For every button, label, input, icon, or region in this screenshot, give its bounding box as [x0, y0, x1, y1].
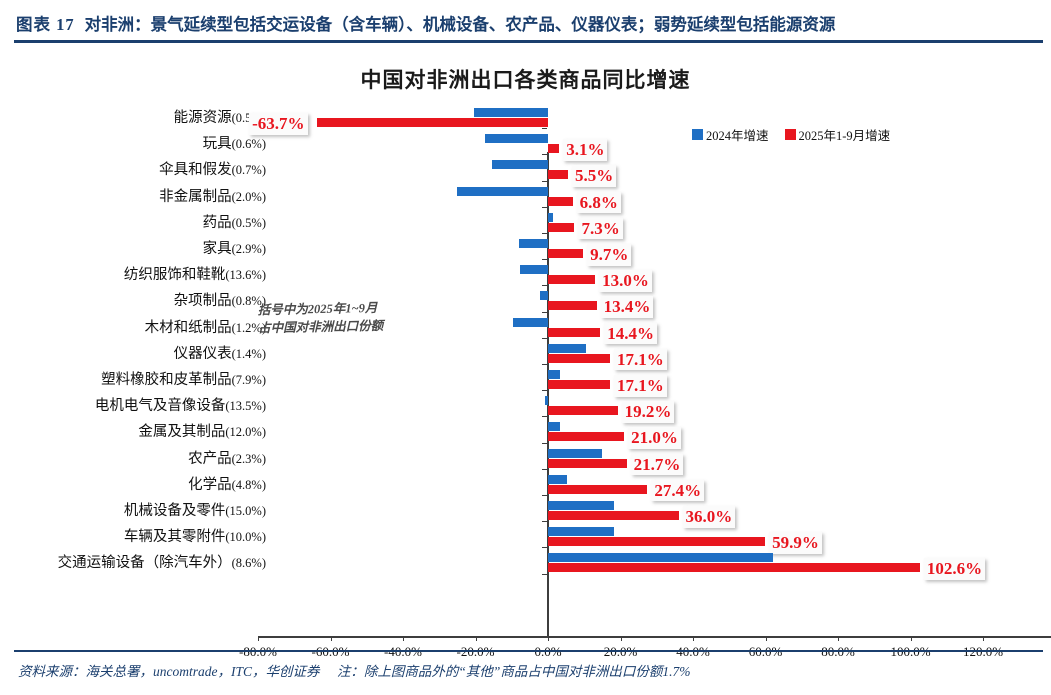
- category-label: 电机电气及音像设备(13.5%): [0, 399, 272, 414]
- y-axis-tick: [542, 181, 547, 182]
- bar-2024: [545, 396, 548, 405]
- bar-2025: [548, 406, 618, 415]
- y-axis-tick: [542, 416, 547, 417]
- bar-2025: [548, 485, 647, 494]
- bar-2024: [548, 475, 567, 484]
- bar-2025: [548, 144, 559, 153]
- bar-2024: [548, 449, 602, 458]
- category-label: 伞具和假发(0.7%): [0, 163, 272, 178]
- bar-2025: [548, 197, 573, 206]
- chart-row: 塑料橡胶和皮革制品(7.9%)17.1%: [0, 367, 1051, 393]
- chart-row: 纺织服饰和鞋靴(13.6%)13.0%: [0, 262, 1051, 288]
- figure-number: 图表 17: [16, 11, 75, 35]
- chart-row: 玩具(0.6%)3.1%: [0, 131, 1051, 157]
- bar-2025: [548, 275, 595, 284]
- bar-2024: [492, 160, 548, 169]
- bar-2024: [485, 134, 548, 143]
- bar-2024: [513, 318, 548, 327]
- x-axis-tick-label: -40.0%: [384, 644, 422, 660]
- x-axis-tick-label: 80.0%: [821, 644, 855, 660]
- bar-2024: [548, 527, 614, 536]
- category-label: 纺织服饰和鞋靴(13.6%): [0, 268, 272, 283]
- bar-2025: [548, 170, 568, 179]
- chart-container: 中国对非洲出口各类商品同比增速 2024年增速 2025年1-9月增速 -80.…: [0, 48, 1051, 638]
- chart-annotation-note: 括号中为2025年1~9月 占中国对非洲出口份额: [258, 299, 384, 338]
- figure-header: 图表 17 对非洲：景气延续型包括交运设备（含车辆）、机械设备、农产品、仪器仪表…: [0, 6, 1051, 40]
- x-axis-tick: [983, 636, 984, 641]
- data-label-2025: 102.6%: [924, 558, 985, 580]
- bar-2025: [548, 328, 600, 337]
- bar-2025: [548, 223, 574, 232]
- bar-2024: [548, 213, 553, 222]
- chart-row: 杂项制品(0.8%)13.4%: [0, 288, 1051, 314]
- bar-2024: [548, 370, 560, 379]
- x-axis-tick-label: 60.0%: [749, 644, 783, 660]
- category-label: 玩具(0.6%): [0, 137, 272, 152]
- category-label: 交通运输设备（除汽车外）(8.6%): [0, 556, 272, 571]
- bar-2025: [317, 118, 548, 127]
- footer-note: 注：除上图商品外的“其他”商品占中国对非洲出口份额1.7%: [337, 664, 691, 679]
- category-label: 塑料橡胶和皮革制品(7.9%): [0, 373, 272, 388]
- x-axis-tick: [766, 636, 767, 641]
- bar-2024: [540, 291, 548, 300]
- x-axis-tick: [621, 636, 622, 641]
- figure-title: 对非洲：景气延续型包括交运设备（含车辆）、机械设备、农产品、仪器仪表；弱势延续型…: [85, 11, 836, 35]
- chart-row: 交通运输设备（除汽车外）(8.6%)102.6%: [0, 550, 1051, 576]
- chart-row: 伞具和假发(0.7%)5.5%: [0, 157, 1051, 183]
- footer-divider: [14, 650, 1043, 652]
- y-axis-tick: [542, 495, 547, 496]
- x-axis-tick: [403, 636, 404, 641]
- y-axis-tick: [542, 364, 547, 365]
- category-label: 化学品(4.8%): [0, 478, 272, 493]
- x-axis-tick: [331, 636, 332, 641]
- bar-2025: [548, 432, 624, 441]
- bar-2024: [548, 422, 560, 431]
- bar-2024: [548, 501, 614, 510]
- chart-row: 能源资源(0.5%)-63.7%: [0, 105, 1051, 131]
- bar-2024: [548, 553, 773, 562]
- category-label: 能源资源(0.5%): [0, 111, 272, 126]
- category-label: 仪器仪表(1.4%): [0, 347, 272, 362]
- category-label: 车辆及其零附件(10.0%): [0, 530, 272, 545]
- y-axis-tick: [542, 390, 547, 391]
- chart-row: 农产品(2.3%)21.7%: [0, 446, 1051, 472]
- y-axis-tick: [542, 469, 547, 470]
- chart-row: 药品(0.5%)7.3%: [0, 210, 1051, 236]
- chart-row: 金属及其制品(12.0%)21.0%: [0, 419, 1051, 445]
- category-label: 金属及其制品(12.0%): [0, 425, 272, 440]
- x-axis-tick-label: -80.0%: [239, 644, 277, 660]
- chart-row: 非金属制品(2.0%)6.8%: [0, 184, 1051, 210]
- bar-2025: [548, 511, 679, 520]
- chart-row: 仪器仪表(1.4%)17.1%: [0, 341, 1051, 367]
- category-label: 杂项制品(0.8%): [0, 294, 272, 309]
- x-axis-tick-label: 100.0%: [890, 644, 930, 660]
- x-axis-line: [258, 636, 1051, 638]
- x-axis-tick: [911, 636, 912, 641]
- x-axis-tick-label: 120.0%: [963, 644, 1003, 660]
- chart-row: 家具(2.9%)9.7%: [0, 236, 1051, 262]
- y-axis-tick: [542, 207, 547, 208]
- category-label: 药品(0.5%): [0, 216, 272, 231]
- chart-row: 车辆及其零附件(10.0%)59.9%: [0, 524, 1051, 550]
- figure-footer: 资料来源：海关总署，uncomtrade，ITC，华创证券 注：除上图商品外的“…: [18, 660, 1043, 680]
- x-axis-tick-label: 20.0%: [604, 644, 638, 660]
- plot-area: -80.0%-60.0%-40.0%-20.0%0.0%20.0%40.0%60…: [0, 48, 1051, 638]
- bar-2024: [548, 344, 586, 353]
- category-label: 农产品(2.3%): [0, 451, 272, 466]
- bar-2024: [520, 265, 548, 274]
- y-axis-tick: [542, 259, 547, 260]
- category-label: 木材和纸制品(1.2%): [0, 320, 272, 335]
- x-axis-tick: [838, 636, 839, 641]
- y-axis-tick: [542, 521, 547, 522]
- y-axis-tick: [542, 574, 547, 575]
- bar-2024: [519, 239, 548, 248]
- x-axis-tick-label: 40.0%: [676, 644, 710, 660]
- x-axis-tick-label: 0.0%: [534, 644, 561, 660]
- header-divider: [14, 40, 1043, 43]
- footer-source: 资料来源：海关总署，uncomtrade，ITC，华创证券: [18, 664, 320, 679]
- bar-2025: [548, 354, 610, 363]
- y-axis-tick: [542, 233, 547, 234]
- bar-2024: [457, 187, 548, 196]
- bar-2025: [548, 301, 597, 310]
- y-axis-tick: [542, 338, 547, 339]
- bar-2025: [548, 537, 765, 546]
- chart-row: 化学品(4.8%)27.4%: [0, 472, 1051, 498]
- chart-row: 木材和纸制品(1.2%)14.4%: [0, 315, 1051, 341]
- category-label: 家具(2.9%): [0, 242, 272, 257]
- bar-2025: [548, 380, 610, 389]
- bar-2024: [474, 108, 548, 117]
- x-axis-tick-label: -20.0%: [457, 644, 495, 660]
- y-axis-tick: [542, 285, 547, 286]
- x-axis-tick: [693, 636, 694, 641]
- x-axis-tick-label: -60.0%: [312, 644, 350, 660]
- x-axis-tick: [476, 636, 477, 641]
- bar-2025: [548, 249, 583, 258]
- category-label: 非金属制品(2.0%): [0, 189, 272, 204]
- chart-row: 机械设备及零件(15.0%)36.0%: [0, 498, 1051, 524]
- chart-row: 电机电气及音像设备(13.5%)19.2%: [0, 393, 1051, 419]
- x-axis-tick: [548, 636, 549, 641]
- x-axis-tick: [258, 636, 259, 641]
- y-axis-tick: [542, 547, 547, 548]
- y-axis-tick: [542, 154, 547, 155]
- y-axis-tick: [542, 128, 547, 129]
- y-axis-tick: [542, 443, 547, 444]
- bar-2025: [548, 459, 627, 468]
- figure-page: 图表 17 对非洲：景气延续型包括交运设备（含车辆）、机械设备、农产品、仪器仪表…: [0, 0, 1051, 695]
- y-axis-tick: [542, 312, 547, 313]
- category-label: 机械设备及零件(15.0%): [0, 504, 272, 519]
- bar-2025: [548, 563, 920, 572]
